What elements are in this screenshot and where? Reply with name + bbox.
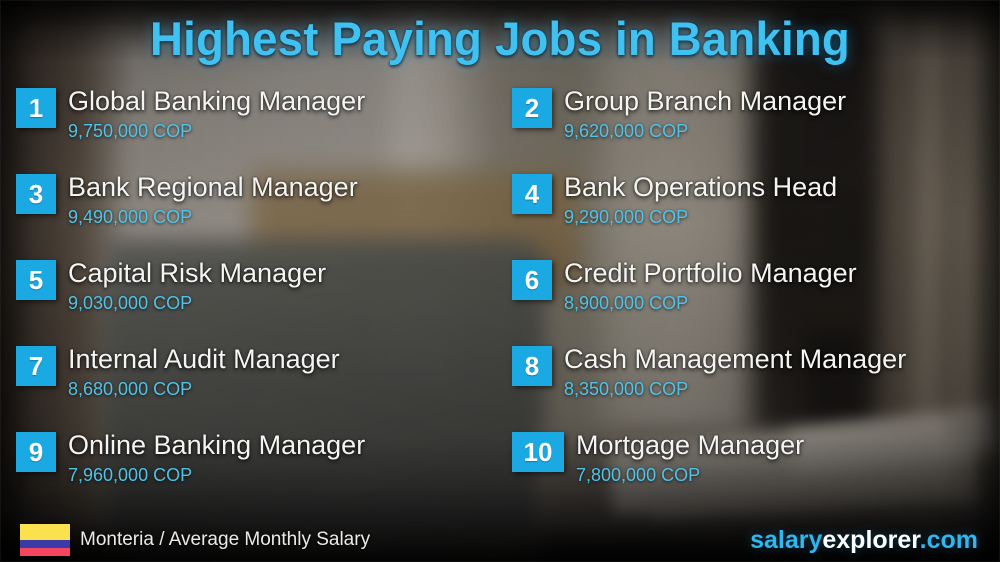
job-title: Bank Operations Head [564, 172, 837, 203]
brand-part-salary: salary [750, 526, 822, 554]
job-salary: 9,030,000 COP [68, 292, 326, 314]
job-text-group: Cash Management Manager 8,350,000 COP [564, 344, 906, 400]
job-title: Online Banking Manager [68, 430, 365, 461]
job-title: Global Banking Manager [68, 86, 365, 117]
infographic-poster: Highest Paying Jobs in Banking 1 Global … [0, 0, 1000, 562]
job-salary: 8,680,000 COP [68, 378, 340, 400]
job-text-group: Bank Regional Manager 9,490,000 COP [68, 172, 358, 228]
job-text-group: Mortgage Manager 7,800,000 COP [576, 430, 804, 486]
job-salary: 7,960,000 COP [68, 464, 365, 486]
poster-content: Highest Paying Jobs in Banking 1 Global … [0, 0, 1000, 562]
job-text-group: Bank Operations Head 9,290,000 COP [564, 172, 837, 228]
job-row: 9 Online Banking Manager 7,960,000 COP 1… [0, 430, 1000, 516]
job-entry-8[interactable]: 8 Cash Management Manager 8,350,000 COP [512, 344, 906, 400]
rank-badge: 4 [512, 174, 552, 214]
job-title: Group Branch Manager [564, 86, 846, 117]
flag-stripe-yellow [20, 524, 70, 540]
job-entry-4[interactable]: 4 Bank Operations Head 9,290,000 COP [512, 172, 837, 228]
job-text-group: Online Banking Manager 7,960,000 COP [68, 430, 365, 486]
job-salary: 8,900,000 COP [564, 292, 857, 314]
job-title: Cash Management Manager [564, 344, 906, 375]
footer-label: Monteria / Average Monthly Salary [80, 529, 370, 551]
job-title: Mortgage Manager [576, 430, 804, 461]
job-entry-3[interactable]: 3 Bank Regional Manager 9,490,000 COP [16, 172, 358, 228]
brand-part-tld: .com [920, 526, 978, 554]
job-text-group: Internal Audit Manager 8,680,000 COP [68, 344, 340, 400]
job-entry-7[interactable]: 7 Internal Audit Manager 8,680,000 COP [16, 344, 340, 400]
job-entry-10[interactable]: 10 Mortgage Manager 7,800,000 COP [512, 430, 804, 486]
job-row: 3 Bank Regional Manager 9,490,000 COP 4 … [0, 172, 1000, 258]
job-entry-2[interactable]: 2 Group Branch Manager 9,620,000 COP [512, 86, 846, 142]
rank-badge: 1 [16, 88, 56, 128]
job-row: 7 Internal Audit Manager 8,680,000 COP 8… [0, 344, 1000, 430]
job-title: Bank Regional Manager [68, 172, 358, 203]
footer: Monteria / Average Monthly Salary salary… [0, 508, 1000, 562]
flag-stripe-blue [20, 540, 70, 548]
flag-stripe-red [20, 548, 70, 556]
rank-badge: 2 [512, 88, 552, 128]
job-list: 1 Global Banking Manager 9,750,000 COP 2… [0, 86, 1000, 516]
colombia-flag-icon [20, 524, 70, 556]
job-row: 5 Capital Risk Manager 9,030,000 COP 6 C… [0, 258, 1000, 344]
job-title: Credit Portfolio Manager [564, 258, 857, 289]
job-text-group: Credit Portfolio Manager 8,900,000 COP [564, 258, 857, 314]
rank-badge: 7 [16, 346, 56, 386]
job-text-group: Global Banking Manager 9,750,000 COP [68, 86, 365, 142]
job-salary: 9,490,000 COP [68, 206, 358, 228]
rank-badge: 6 [512, 260, 552, 300]
job-title: Capital Risk Manager [68, 258, 326, 289]
job-entry-1[interactable]: 1 Global Banking Manager 9,750,000 COP [16, 86, 365, 142]
job-entry-9[interactable]: 9 Online Banking Manager 7,960,000 COP [16, 430, 365, 486]
job-entry-5[interactable]: 5 Capital Risk Manager 9,030,000 COP [16, 258, 326, 314]
job-salary: 8,350,000 COP [564, 378, 906, 400]
brand-part-explorer: explorer [822, 526, 919, 554]
rank-badge: 8 [512, 346, 552, 386]
rank-badge: 9 [16, 432, 56, 472]
job-text-group: Capital Risk Manager 9,030,000 COP [68, 258, 326, 314]
job-text-group: Group Branch Manager 9,620,000 COP [564, 86, 846, 142]
job-salary: 9,750,000 COP [68, 120, 365, 142]
job-salary: 9,620,000 COP [564, 120, 846, 142]
rank-badge: 10 [512, 432, 564, 472]
job-title: Internal Audit Manager [68, 344, 340, 375]
rank-badge: 3 [16, 174, 56, 214]
rank-badge: 5 [16, 260, 56, 300]
job-entry-6[interactable]: 6 Credit Portfolio Manager 8,900,000 COP [512, 258, 857, 314]
job-row: 1 Global Banking Manager 9,750,000 COP 2… [0, 86, 1000, 172]
page-title: Highest Paying Jobs in Banking [15, 11, 985, 66]
job-salary: 9,290,000 COP [564, 206, 837, 228]
job-salary: 7,800,000 COP [576, 464, 804, 486]
brand-logo[interactable]: salaryexplorer.com [750, 526, 978, 554]
